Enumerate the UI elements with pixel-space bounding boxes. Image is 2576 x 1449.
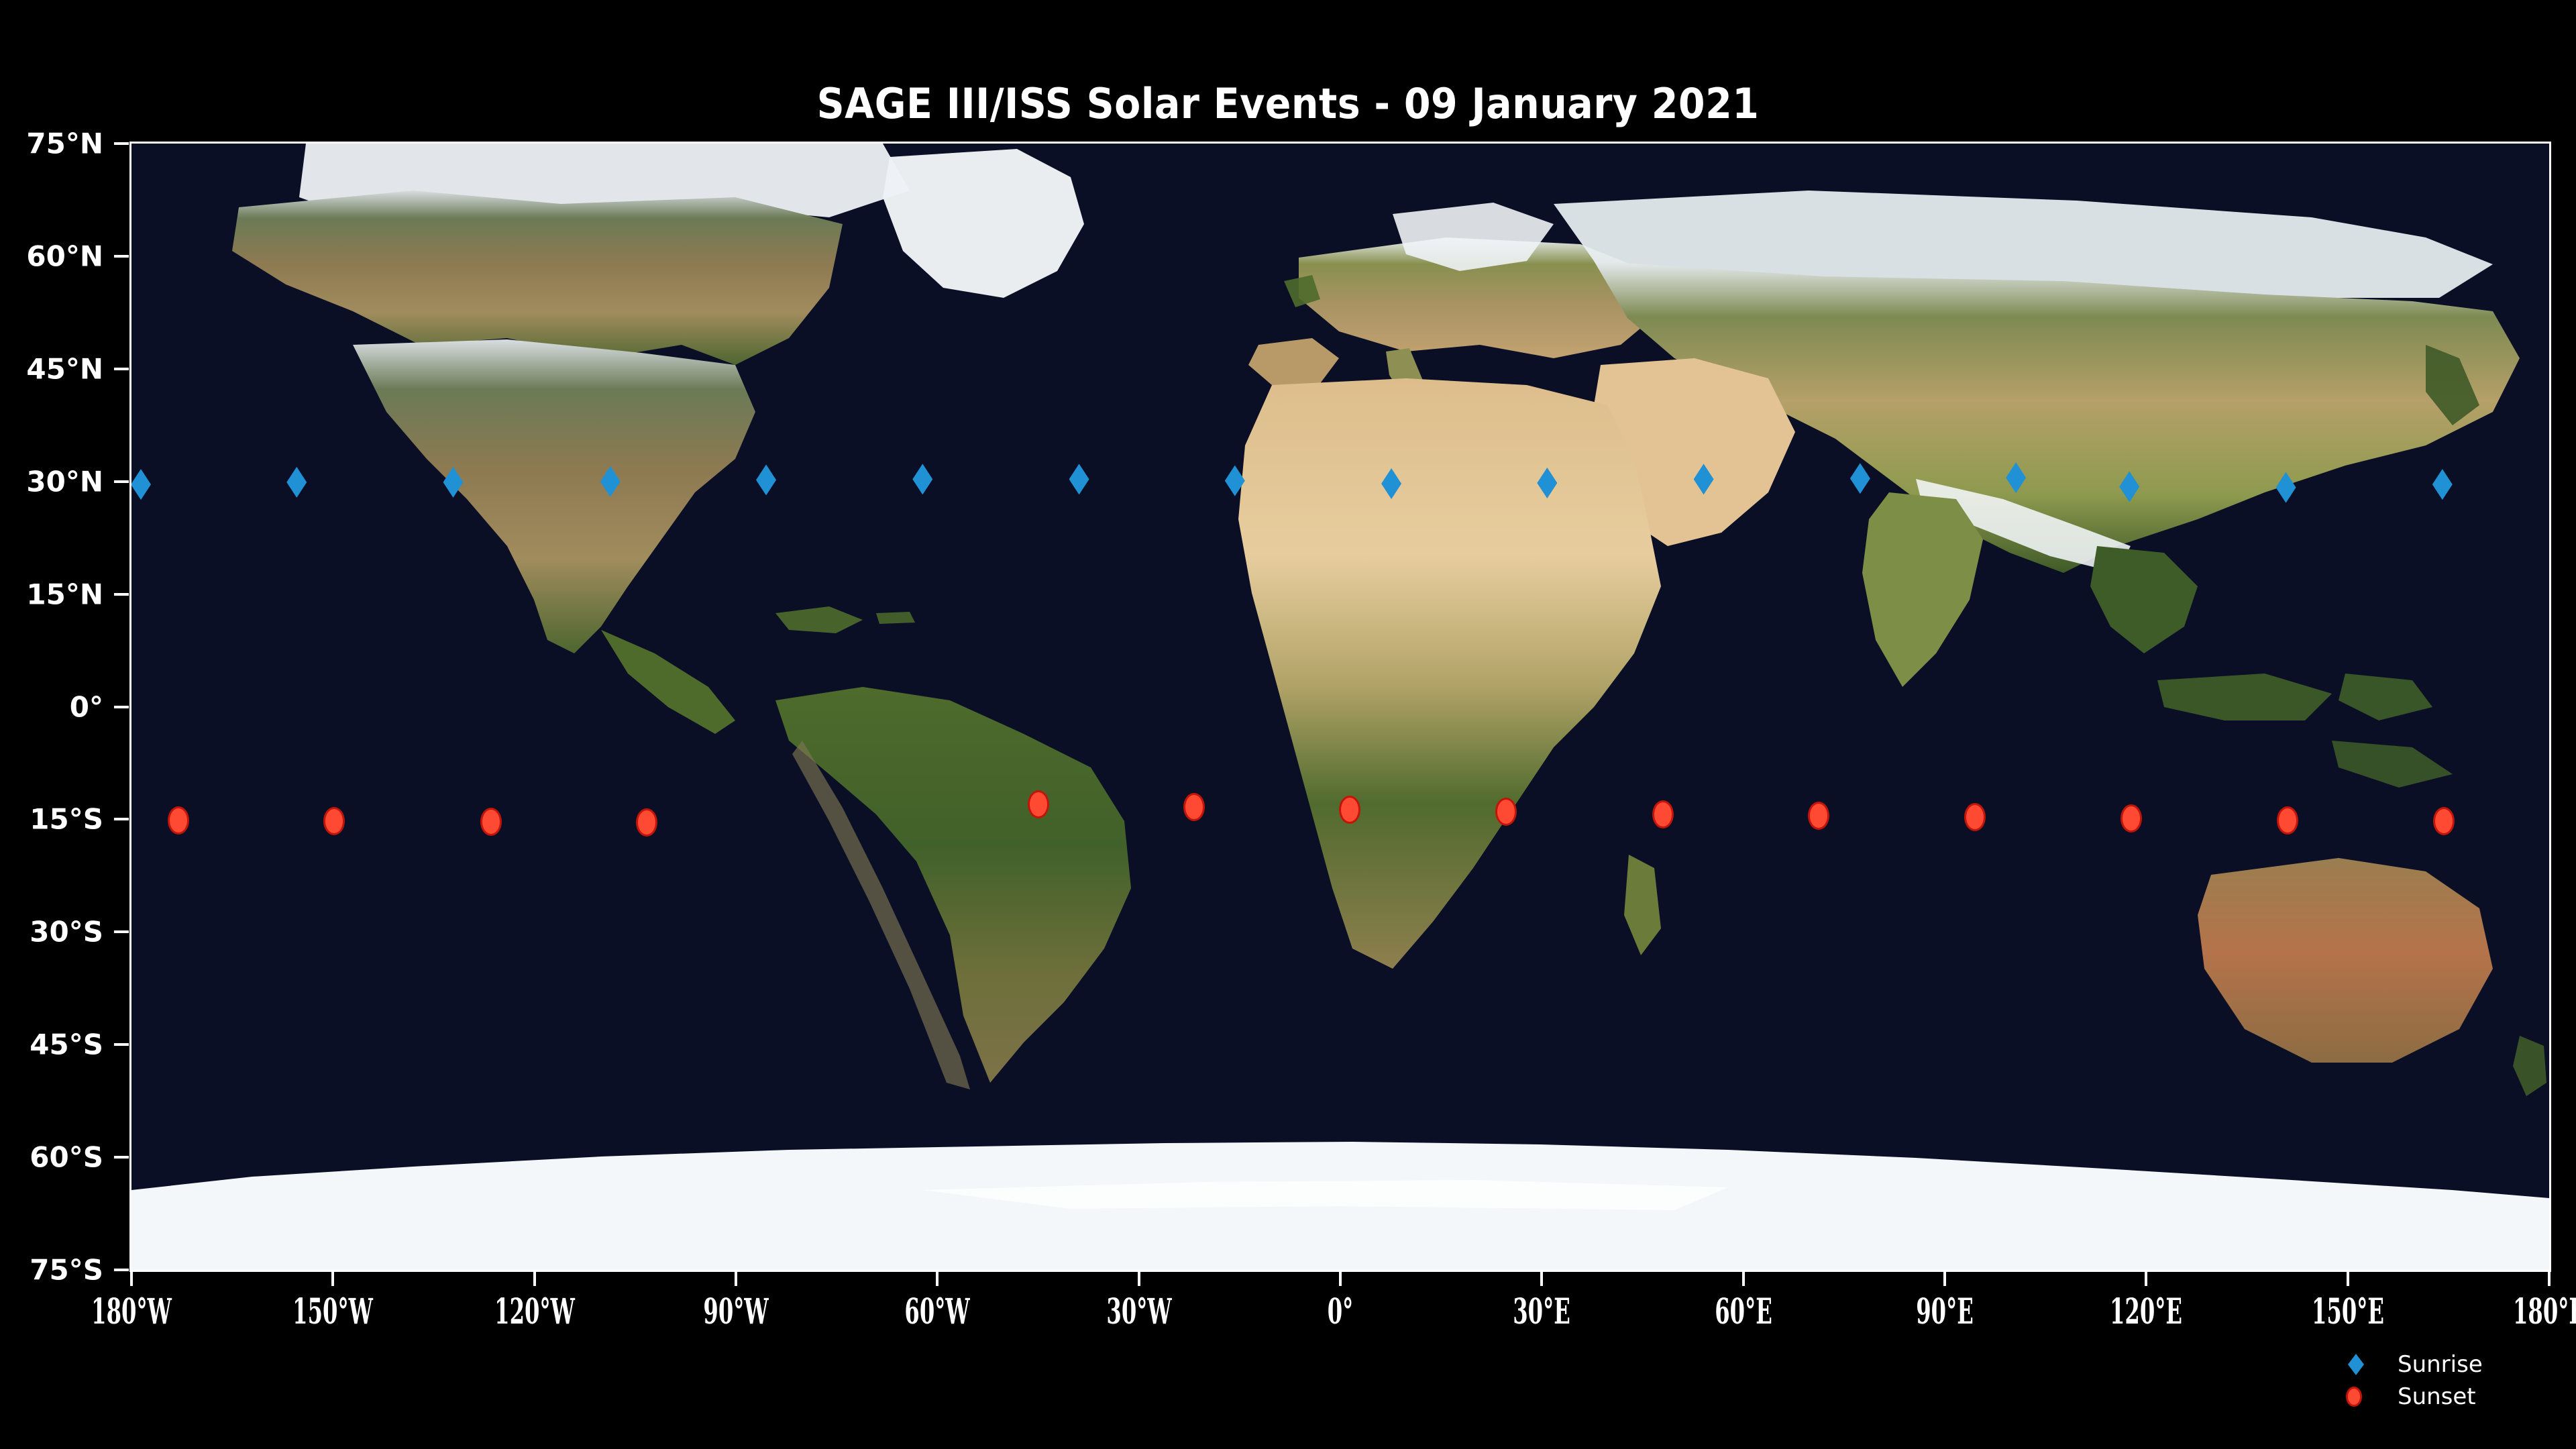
y-tick-mark <box>114 1043 129 1046</box>
y-tick-mark <box>114 368 129 370</box>
y-tick-label: 0° <box>70 690 103 723</box>
sunset-marker <box>2435 809 2453 833</box>
x-tick-mark <box>331 1270 334 1286</box>
y-tick-mark <box>114 706 129 708</box>
x-tick-label: 120°E <box>2110 1291 2182 1332</box>
sunset-marker <box>325 809 343 833</box>
sunset-marker <box>638 810 655 835</box>
sunset-marker <box>2123 806 2140 830</box>
y-tick-label: 30°N <box>26 465 103 498</box>
y-tick-mark <box>114 1269 129 1271</box>
sunset-marker <box>1497 800 1515 824</box>
x-tick-mark <box>1138 1270 1140 1286</box>
y-tick-label: 75°S <box>30 1254 103 1287</box>
sunset-marker <box>1185 795 1203 819</box>
y-tick-label: 75°N <box>26 127 103 160</box>
x-tick-mark <box>735 1270 737 1286</box>
x-tick-label: 30°E <box>1513 1291 1571 1332</box>
x-tick-mark <box>2145 1270 2147 1286</box>
x-tick-label: 0° <box>1328 1291 1354 1332</box>
x-tick-label: 90°E <box>1916 1291 1974 1332</box>
x-tick-mark <box>1742 1270 1745 1286</box>
x-tick-label: 90°W <box>703 1291 768 1332</box>
legend-item[interactable]: Sunset <box>2348 1381 2569 1413</box>
y-tick-mark <box>114 1156 129 1159</box>
legend-label: Sunset <box>2398 1383 2476 1410</box>
y-tick-mark <box>114 480 129 483</box>
y-tick-label: 60°S <box>30 1141 103 1174</box>
y-tick-mark <box>114 142 129 145</box>
x-tick-label: 180°W <box>91 1291 172 1332</box>
x-tick-mark <box>936 1270 938 1286</box>
sunset-marker <box>1966 805 1984 829</box>
sunset-marker-icon <box>2348 1389 2360 1405</box>
y-tick-mark <box>114 593 129 596</box>
y-tick-mark <box>114 255 129 258</box>
map-plot-area <box>131 144 2549 1270</box>
x-tick-label: 60°E <box>1715 1291 1772 1332</box>
chart-title: SAGE III/ISS Solar Events - 09 January 2… <box>103 79 2473 128</box>
sunset-marker <box>1654 802 1672 826</box>
y-tick-mark <box>114 818 129 820</box>
x-tick-label: 60°W <box>905 1291 970 1332</box>
x-tick-label: 150°E <box>2312 1291 2384 1332</box>
sunset-marker <box>1341 798 1358 822</box>
y-tick-label: 45°N <box>26 352 103 385</box>
sunset-marker <box>1030 792 1047 816</box>
y-tick-label: 15°N <box>26 578 103 610</box>
x-tick-mark <box>533 1270 536 1286</box>
x-tick-label: 180°E <box>2513 1291 2576 1332</box>
blue-marble-basemap <box>131 144 2549 1270</box>
x-tick-mark <box>130 1270 133 1286</box>
x-tick-mark <box>2548 1270 2551 1286</box>
x-tick-mark <box>1339 1270 1342 1286</box>
x-tick-label: 30°W <box>1106 1291 1171 1332</box>
sunset-marker <box>170 808 187 833</box>
sunset-marker <box>482 810 500 834</box>
x-tick-mark <box>2347 1270 2349 1286</box>
x-tick-label: 150°W <box>293 1291 374 1332</box>
y-tick-label: 30°S <box>30 916 103 949</box>
x-tick-mark <box>1943 1270 1946 1286</box>
y-tick-label: 45°S <box>30 1028 103 1061</box>
sunset-marker <box>1810 804 1827 828</box>
y-tick-label: 60°N <box>26 239 103 272</box>
sunset-marker <box>2279 808 2296 833</box>
x-tick-label: 120°W <box>494 1291 575 1332</box>
x-tick-mark <box>1540 1270 1543 1286</box>
legend-label: Sunrise <box>2398 1351 2483 1378</box>
legend-item[interactable]: Sunrise <box>2348 1348 2569 1381</box>
y-tick-mark <box>114 930 129 933</box>
sunrise-marker-icon <box>2348 1354 2364 1375</box>
figure-canvas: SAGE III/ISS Solar Events - 09 January 2… <box>0 0 2576 1449</box>
y-tick-label: 15°S <box>30 803 103 836</box>
legend: SunriseSunset <box>2348 1348 2569 1413</box>
